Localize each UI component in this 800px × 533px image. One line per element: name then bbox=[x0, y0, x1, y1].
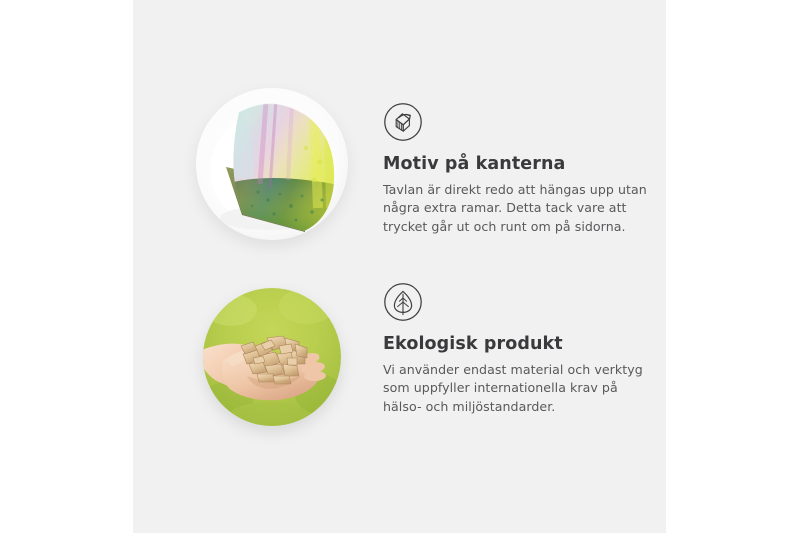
leaf-icon bbox=[383, 282, 423, 322]
feature-title-eco: Ekologisk produkt bbox=[383, 334, 655, 354]
feature-block-eco: Ekologisk produkt Vi använder endast mat… bbox=[133, 268, 666, 443]
right-white-margin bbox=[666, 0, 800, 533]
product-feature-infographic: Motiv på kanterna Tavlan är direkt redo … bbox=[0, 0, 800, 533]
left-white-margin bbox=[0, 0, 133, 533]
feature-body-eco: Vi använder endast material och verktyg … bbox=[383, 361, 655, 416]
feature-text-eco: Ekologisk produkt Vi använder endast mat… bbox=[383, 282, 655, 416]
feature-text-edges: Motiv på kanterna Tavlan är direkt redo … bbox=[383, 102, 655, 236]
feature-block-edges: Motiv på kanterna Tavlan är direkt redo … bbox=[133, 80, 666, 255]
canvas-wrapped-edge-icon bbox=[383, 102, 423, 142]
feature-body-edges: Tavlan är direkt redo att hängas upp uta… bbox=[383, 181, 655, 236]
canvas-print-abstract-photo bbox=[196, 88, 348, 240]
feature-title-edges: Motiv på kanterna bbox=[383, 154, 655, 174]
hands-holding-wood-chips-photo bbox=[203, 288, 341, 426]
